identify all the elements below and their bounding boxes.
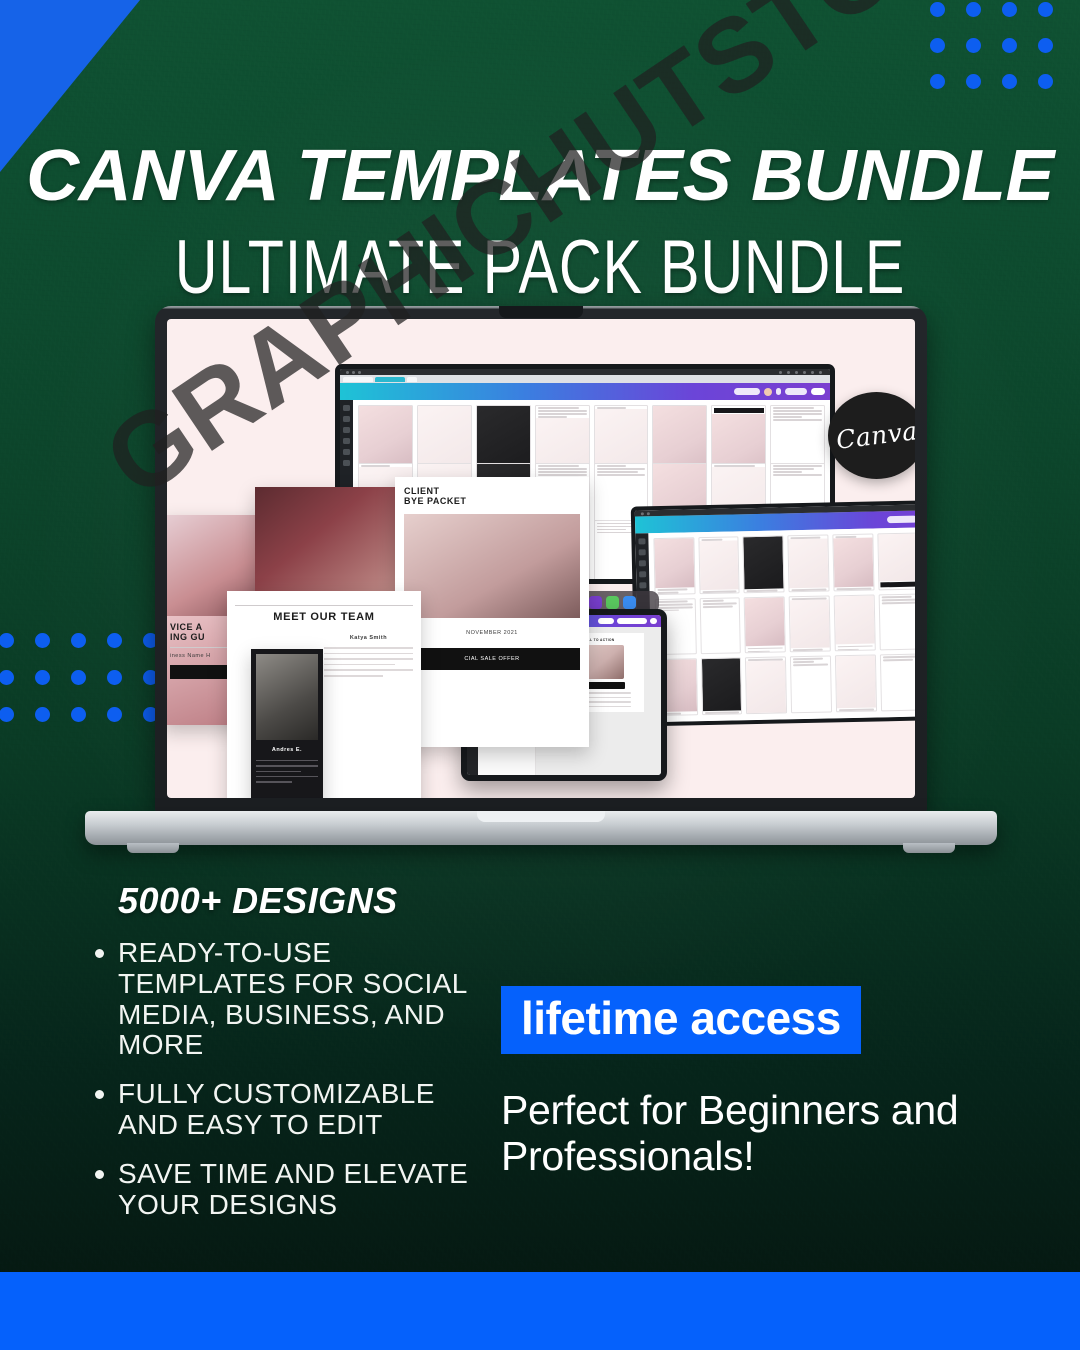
canva-toolbar [340,383,830,400]
template-card-client-packet: CLIENT BYE PACKET NOVEMBER 2021 CIAL SAL… [395,477,589,747]
list-item: READY-TO-USE TEMPLATES FOR SOCIAL MEDIA,… [86,938,486,1061]
template-card [789,595,831,652]
template-card [743,535,785,592]
template-card [877,533,915,590]
list-item: SAVE TIME AND ELEVATE YOUR DESIGNS [86,1159,486,1221]
feature-bullet-list: READY-TO-USE TEMPLATES FOR SOCIAL MEDIA,… [86,938,486,1238]
dock-icon-settings [623,596,636,609]
designs-count-heading: 5000+ DESIGNS [118,880,398,922]
offer-tagline: Perfect for Beginners and Professionals! [501,1088,971,1180]
headline-primary: CANVA TEMPLATES BUNDLE [0,140,1080,212]
template-card [701,657,743,714]
laptop-lid: CALL TO ACTION VICE A ING GU [155,306,927,814]
template-card [698,536,740,593]
packet-date: NOVEMBER 2021 [404,630,580,636]
template-card-dark-profile: Andres E. [251,649,323,798]
template-card [835,655,877,712]
laptop-foot-left [127,843,179,853]
template-grid-secondary [648,527,915,723]
os-menubar [340,369,830,375]
laptop-notch [499,306,583,318]
template-card [833,594,875,651]
template-card-photo [255,487,407,605]
bottom-accent-bar [0,1272,1080,1350]
canva-workspace-secondary [635,527,915,723]
template-card [699,597,741,654]
meet-our-team-title: MEET OUR TEAM [235,611,413,623]
lifetime-access-badge: lifetime access [501,986,861,1054]
template-card [744,596,786,653]
dock-icon-canva [589,596,602,609]
top-right-dot-grid [920,0,1064,100]
promo-poster: CANVA TEMPLATES BUNDLE ULTIMATE PACK BUN… [0,0,1080,1350]
avatar [764,388,772,396]
dock-icon-sheets [606,596,619,609]
laptop-foot-right [903,843,955,853]
list-item: FULLY CUSTOMIZABLE AND EASY TO EDIT [86,1079,486,1141]
laptop-base [85,811,997,845]
canva-logo-badge: Canva [828,392,915,479]
browser-tabstrip [340,375,830,383]
template-card [745,656,787,713]
client-packet-line2: BYE PACKET [404,496,580,506]
dark-card-name: Andres E. [256,747,318,753]
lifetime-access-label: lifetime access [521,992,841,1044]
device-mockup: CALL TO ACTION VICE A ING GU [85,306,997,851]
template-card [879,654,915,711]
inner-laptop-secondary [631,499,915,726]
template-card [790,656,832,713]
client-packet-line1: CLIENT [404,486,580,496]
sale-offer-label: CIAL SALE OFFER [464,656,519,662]
laptop-screen: CALL TO ACTION VICE A ING GU [167,319,915,798]
canva-logo-text: Canva [834,416,915,455]
person-name: Katya Smith [324,635,413,641]
headline-secondary: ULTIMATE PACK BUNDLE [119,230,961,306]
template-card [788,534,830,591]
template-card [832,534,874,591]
headline-block: CANVA TEMPLATES BUNDLE ULTIMATE PACK BUN… [0,140,1080,306]
canva-window-secondary [635,504,915,723]
template-card [878,593,915,650]
template-card [653,537,695,594]
